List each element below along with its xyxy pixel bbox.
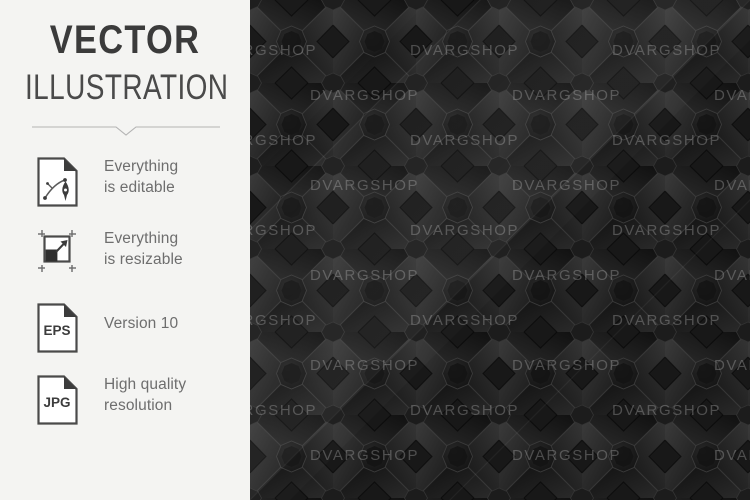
- feature-label: Everything is editable: [104, 156, 249, 198]
- poster-canvas: VECTOR ILLUSTRATION: [0, 0, 750, 500]
- title-main: VECTOR: [18, 18, 233, 62]
- feature-label: Everything is resizable: [104, 228, 249, 270]
- eps-file-icon-text: EPS: [43, 323, 70, 338]
- document-pen-icon: [36, 156, 80, 208]
- jpg-file-icon-text: JPG: [43, 395, 70, 410]
- feature-label-line1: Everything: [104, 228, 249, 249]
- feature-label: High quality resolution: [104, 374, 249, 416]
- feature-label-line2: is editable: [104, 177, 249, 198]
- pattern-preview: DVARGSHOPDVARGSHOPDVARGSHOPDVARGSHOPDVAR…: [250, 0, 750, 500]
- page-title: VECTOR ILLUSTRATION: [0, 18, 250, 108]
- resize-arrow-icon: [36, 228, 80, 280]
- jpg-file-icon: JPG: [36, 374, 80, 426]
- eps-file-icon-glyph: EPS: [36, 302, 80, 354]
- feature-item-editable: Everything is editable: [36, 156, 246, 212]
- divider-with-chevron: [32, 122, 220, 140]
- feature-label: Version 10: [104, 313, 249, 334]
- divider-icon: [32, 122, 220, 140]
- feature-label-line2: resolution: [104, 395, 249, 416]
- feature-label-line1: Version 10: [104, 313, 249, 334]
- feature-item-quality: JPG High quality resolution: [36, 374, 246, 430]
- eps-file-icon: EPS: [36, 302, 80, 354]
- dark-geometric-pattern: [250, 0, 750, 500]
- feature-label-line1: High quality: [104, 374, 249, 395]
- feature-label-line1: Everything: [104, 156, 249, 177]
- feature-item-resizable: Everything is resizable: [36, 228, 246, 284]
- feature-item-version: EPS Version 10: [36, 302, 246, 358]
- resize-arrow-icon-glyph: [36, 228, 80, 280]
- document-pen-icon-glyph: [36, 156, 80, 208]
- title-subtitle: ILLUSTRATION: [25, 68, 225, 108]
- info-panel: VECTOR ILLUSTRATION: [0, 0, 250, 500]
- feature-label-line2: is resizable: [104, 249, 249, 270]
- jpg-file-icon-glyph: JPG: [36, 374, 80, 426]
